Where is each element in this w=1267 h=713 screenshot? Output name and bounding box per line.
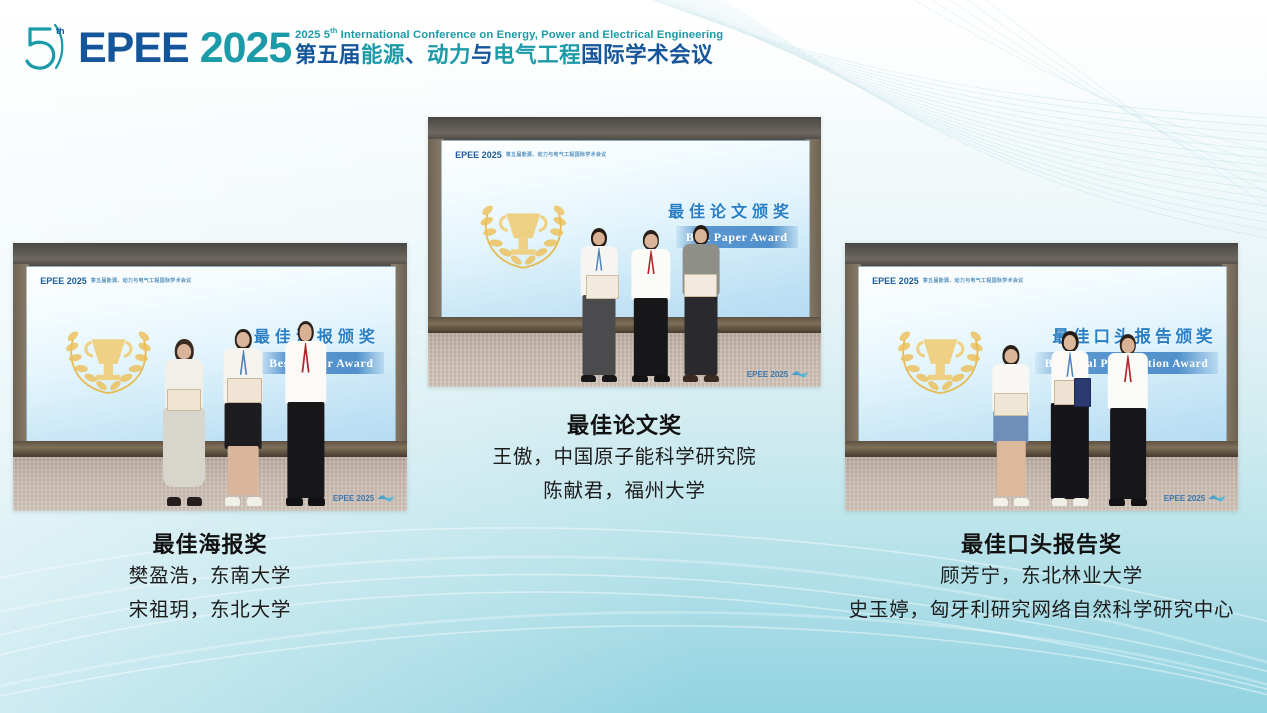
laurel-trophy-icon <box>57 313 160 398</box>
screen-logo-chinese: 第五届能源、动力与电气工程国际学术会议 <box>923 277 1024 284</box>
award-recipient-line: 史玉婷，匈牙利研究网络自然科学研究中心 <box>820 594 1263 628</box>
stage-front-edge <box>428 317 821 333</box>
screen-logo-text: EPEE 2025 <box>40 276 87 286</box>
award-ceremony-scene: EPEE 2025 第五届能源、动力与电气工程国际学术会议 <box>428 117 821 387</box>
photo-watermark: EPEE 2025 <box>333 494 395 503</box>
photo-best-poster[interactable]: EPEE 2025 第五届能源、动力与电气工程国际学术会议 <box>13 243 407 511</box>
screen-logo: EPEE 2025 第五届能源、动力与电气工程国际学术会议 <box>455 150 606 160</box>
award-recipient-1 <box>575 228 622 382</box>
award-recipient-1 <box>986 345 1035 506</box>
watermark-swoosh-icon <box>1208 495 1226 502</box>
caption-best-poster: 最佳海报奖 樊盈浩，东南大学 宋祖玥，东北大学 <box>13 530 407 628</box>
caption-best-oral-presentation: 最佳口头报告奖 顾芳宁，东北林业大学 史玉婷，匈牙利研究网络自然科学研究中心 <box>820 530 1263 628</box>
screen-logo-text: EPEE 2025 <box>872 276 919 286</box>
conference-title-block: 2025 5th International Conference on Ene… <box>295 27 723 69</box>
photo-watermark: EPEE 2025 <box>747 370 809 379</box>
award-presenter <box>626 230 675 381</box>
photo-best-oral-presentation[interactable]: EPEE 2025 第五届能源、动力与电气工程国际学术会议 <box>845 243 1238 511</box>
award-recipient-line: 宋祖玥，东北大学 <box>13 594 407 628</box>
title-cn-part-3: 动力 <box>427 43 471 68</box>
award-presenter <box>279 321 332 506</box>
stage-front-edge <box>845 441 1238 457</box>
conference-title-english: 2025 5th International Conference on Ene… <box>295 27 723 41</box>
screen-logo: EPEE 2025 第五届能源、动力与电气工程国际学术会议 <box>40 276 191 286</box>
title-cn-part-6: 国际学术会议 <box>581 43 713 68</box>
screen-award-title-chinese: 最佳论文颁奖 <box>668 198 794 222</box>
title-cn-part-0: 第五届 <box>295 43 361 68</box>
conference-title-chinese: 第五届能源、动力与电气工程国际学术会议 <box>295 43 723 69</box>
title-en-prefix: 2025 5 <box>295 29 330 41</box>
watermark-text: EPEE 2025 <box>333 494 374 503</box>
title-cn-part-2: 、 <box>405 43 427 68</box>
logo-acronym: EPEE <box>78 24 189 72</box>
caption-best-paper: 最佳论文奖 王傲，中国原子能科学研究院 陈献君，福州大学 <box>428 411 821 509</box>
fifth-edition-mark-icon: th <box>22 20 68 72</box>
screen-logo-chinese: 第五届能源、动力与电气工程国际学术会议 <box>91 277 192 284</box>
watermark-swoosh-icon <box>791 371 809 378</box>
title-cn-part-1: 能源 <box>361 43 405 68</box>
conference-logo: th EPEE 2025 <box>22 20 291 72</box>
stage-screen: EPEE 2025 第五届能源、动力与电气工程国际学术会议 <box>858 266 1226 445</box>
svg-text:th: th <box>56 26 65 36</box>
photo-best-paper[interactable]: EPEE 2025 第五届能源、动力与电气工程国际学术会议 <box>428 117 821 387</box>
award-recipient-2 <box>218 329 269 506</box>
watermark-text: EPEE 2025 <box>1164 494 1205 503</box>
award-recipient-line: 顾芳宁，东北林业大学 <box>820 560 1263 594</box>
award-title: 最佳口头报告奖 <box>820 530 1263 560</box>
page-header: th EPEE 2025 2025 5th International Conf… <box>0 0 1267 92</box>
award-presenter <box>1102 334 1153 506</box>
title-cn-part-5: 电气工程 <box>493 43 581 68</box>
award-title: 最佳论文奖 <box>428 411 821 441</box>
watermark-text: EPEE 2025 <box>747 370 788 379</box>
logo-year: 2025 <box>200 24 292 72</box>
screen-logo-text: EPEE 2025 <box>455 150 502 160</box>
award-recipient-2 <box>1045 331 1094 505</box>
award-ceremony-scene: EPEE 2025 第五届能源、动力与电气工程国际学术会议 <box>845 243 1238 511</box>
title-cn-part-4: 与 <box>471 43 493 68</box>
title-en-rest: International Conference on Energy, Powe… <box>337 29 723 41</box>
stage-front-edge <box>13 441 407 457</box>
laurel-trophy-icon <box>472 187 575 273</box>
award-ceremony-scene: EPEE 2025 第五届能源、动力与电气工程国际学术会议 <box>13 243 407 511</box>
laurel-trophy-icon <box>889 313 992 398</box>
watermark-swoosh-icon <box>377 495 395 502</box>
screen-logo-chinese: 第五届能源、动力与电气工程国际学术会议 <box>506 151 607 158</box>
logo-wordmark: EPEE 2025 <box>78 27 291 70</box>
stage-screen: EPEE 2025 第五届能源、动力与电气工程国际学术会议 <box>26 266 395 445</box>
photo-watermark: EPEE 2025 <box>1164 494 1226 503</box>
award-recipient-1 <box>159 339 210 505</box>
award-recipient-line: 陈献君，福州大学 <box>428 475 821 509</box>
award-recipient-line: 王傲，中国原子能科学研究院 <box>428 441 821 475</box>
award-title: 最佳海报奖 <box>13 530 407 560</box>
screen-logo: EPEE 2025 第五届能源、动力与电气工程国际学术会议 <box>872 276 1023 286</box>
award-recipient-2 <box>678 225 725 382</box>
award-recipient-line: 樊盈浩，东南大学 <box>13 560 407 594</box>
